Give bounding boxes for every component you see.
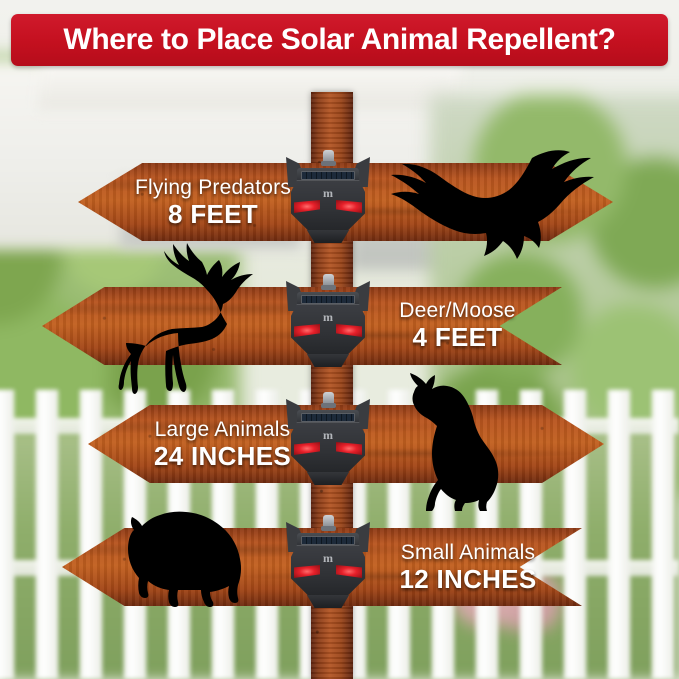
solar-panel-icon bbox=[301, 536, 355, 545]
solar-panel-icon bbox=[301, 413, 355, 422]
brand-logo: m bbox=[318, 550, 338, 566]
solar-repellent-device-4[interactable]: m bbox=[285, 515, 371, 607]
eagle-silhouette bbox=[372, 142, 612, 267]
brand-logo: m bbox=[318, 185, 338, 201]
device-chin bbox=[304, 595, 352, 608]
mounting-knob-icon bbox=[323, 515, 334, 529]
fence-picket bbox=[80, 390, 102, 679]
infographic-stage: Flying Predators 8 FEET m Deer/Moose 4 F… bbox=[0, 0, 679, 679]
device-chin bbox=[304, 472, 352, 485]
mounting-knob-icon bbox=[323, 392, 334, 406]
device-chin bbox=[304, 354, 352, 367]
headline-banner: Where to Place Solar Animal Repellent? bbox=[11, 14, 668, 66]
fence-picket bbox=[36, 390, 58, 679]
solar-repellent-device-3[interactable]: m bbox=[285, 392, 371, 484]
brand-logo: m bbox=[318, 427, 338, 443]
page-title: Where to Place Solar Animal Repellent? bbox=[63, 23, 615, 57]
solar-panel-icon bbox=[301, 295, 355, 304]
wolf-silhouette bbox=[392, 372, 532, 512]
deer-silhouette bbox=[118, 243, 298, 395]
solar-repellent-device-1[interactable]: m bbox=[285, 150, 371, 242]
fence-picket bbox=[0, 390, 14, 679]
solar-repellent-device-2[interactable]: m bbox=[285, 274, 371, 366]
mounting-knob-icon bbox=[323, 274, 334, 288]
mounting-knob-icon bbox=[323, 150, 334, 164]
fence-picket bbox=[608, 390, 630, 679]
bear-silhouette bbox=[116, 508, 276, 618]
fence-picket bbox=[652, 390, 674, 679]
device-chin bbox=[304, 230, 352, 243]
solar-panel-icon bbox=[301, 171, 355, 180]
brand-logo: m bbox=[318, 309, 338, 325]
